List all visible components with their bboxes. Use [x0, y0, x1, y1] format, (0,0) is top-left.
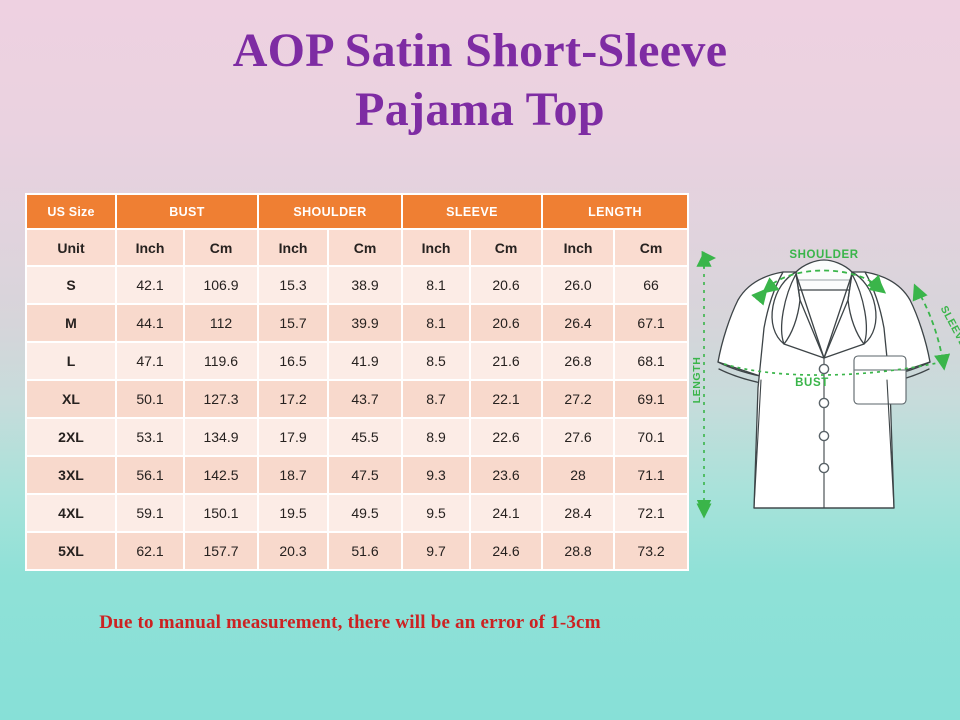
cell-shoulder-inch: 17.9	[259, 419, 327, 455]
button	[819, 431, 828, 440]
size-table: US Size BUST SHOULDER SLEEVE LENGTH Unit…	[25, 193, 689, 571]
table-row: L 47.1 119.6 16.5 41.9 8.5 21.6 26.8 68.…	[27, 343, 687, 379]
cell-size: 4XL	[27, 495, 115, 531]
cell-sleeve-inch: 8.1	[403, 267, 469, 303]
length-label: LENGTH	[691, 357, 703, 404]
cell-bust-inch: 42.1	[117, 267, 183, 303]
cell-bust-inch: 53.1	[117, 419, 183, 455]
cell-size: 2XL	[27, 419, 115, 455]
cell-size: 5XL	[27, 533, 115, 569]
cell-length-inch: 27.6	[543, 419, 613, 455]
cell-size: L	[27, 343, 115, 379]
unit-bust-cm: Cm	[185, 230, 257, 265]
cell-length-inch: 28.8	[543, 533, 613, 569]
cell-shoulder-cm: 41.9	[329, 343, 401, 379]
cell-bust-cm: 119.6	[185, 343, 257, 379]
cell-bust-inch: 47.1	[117, 343, 183, 379]
cell-size: 3XL	[27, 457, 115, 493]
cell-sleeve-cm: 22.6	[471, 419, 541, 455]
cell-shoulder-cm: 43.7	[329, 381, 401, 417]
cell-shoulder-inch: 15.7	[259, 305, 327, 341]
cell-bust-inch: 44.1	[117, 305, 183, 341]
cell-sleeve-cm: 24.1	[471, 495, 541, 531]
cell-length-inch: 27.2	[543, 381, 613, 417]
cell-shoulder-inch: 18.7	[259, 457, 327, 493]
cell-bust-cm: 106.9	[185, 267, 257, 303]
cell-length-cm: 66	[615, 267, 687, 303]
cell-length-inch: 26.8	[543, 343, 613, 379]
sleeve-label: SLEEVE	[938, 304, 960, 349]
column-header-length: LENGTH	[543, 195, 687, 228]
unit-bust-inch: Inch	[117, 230, 183, 265]
cell-bust-inch: 62.1	[117, 533, 183, 569]
cell-shoulder-cm: 51.6	[329, 533, 401, 569]
cell-bust-cm: 150.1	[185, 495, 257, 531]
unit-shoulder-inch: Inch	[259, 230, 327, 265]
table-row: XL 50.1 127.3 17.2 43.7 8.7 22.1 27.2 69…	[27, 381, 687, 417]
button	[819, 463, 828, 472]
garment-diagram: SHOULDER SLEEVE BUST LENGTH	[688, 228, 960, 546]
column-header-bust: BUST	[117, 195, 257, 228]
unit-sleeve-inch: Inch	[403, 230, 469, 265]
cell-bust-inch: 56.1	[117, 457, 183, 493]
cell-shoulder-inch: 19.5	[259, 495, 327, 531]
cell-sleeve-inch: 8.5	[403, 343, 469, 379]
table-row: 3XL 56.1 142.5 18.7 47.5 9.3 23.6 28 71.…	[27, 457, 687, 493]
cell-sleeve-inch: 9.3	[403, 457, 469, 493]
unit-shoulder-cm: Cm	[329, 230, 401, 265]
cell-bust-cm: 127.3	[185, 381, 257, 417]
cell-length-inch: 26.4	[543, 305, 613, 341]
table-row: 5XL 62.1 157.7 20.3 51.6 9.7 24.6 28.8 7…	[27, 533, 687, 569]
cell-sleeve-cm: 20.6	[471, 267, 541, 303]
disclaimer-text: Due to manual measurement, there will be…	[0, 612, 700, 634]
column-header-us-size: US Size	[27, 195, 115, 228]
cell-shoulder-cm: 39.9	[329, 305, 401, 341]
cell-bust-cm: 157.7	[185, 533, 257, 569]
cell-length-cm: 69.1	[615, 381, 687, 417]
cell-bust-cm: 134.9	[185, 419, 257, 455]
cell-size: M	[27, 305, 115, 341]
cell-length-inch: 28	[543, 457, 613, 493]
button	[819, 364, 828, 373]
cell-length-cm: 73.2	[615, 533, 687, 569]
table-unit-row: Unit Inch Cm Inch Cm Inch Cm Inch Cm	[27, 230, 687, 265]
column-header-shoulder: SHOULDER	[259, 195, 401, 228]
unit-length-cm: Cm	[615, 230, 687, 265]
sleeve-arrow-top	[915, 286, 920, 298]
cell-length-cm: 72.1	[615, 495, 687, 531]
cell-shoulder-inch: 17.2	[259, 381, 327, 417]
cell-sleeve-cm: 23.6	[471, 457, 541, 493]
unit-sleeve-cm: Cm	[471, 230, 541, 265]
shoulder-label: SHOULDER	[789, 249, 858, 261]
page-title-line-2: Pajama Top	[0, 81, 960, 140]
table-row: 2XL 53.1 134.9 17.9 45.5 8.9 22.6 27.6 7…	[27, 419, 687, 455]
table-row: 4XL 59.1 150.1 19.5 49.5 9.5 24.1 28.4 7…	[27, 495, 687, 531]
column-header-sleeve: SLEEVE	[403, 195, 541, 228]
cell-sleeve-inch: 8.7	[403, 381, 469, 417]
cell-shoulder-cm: 47.5	[329, 457, 401, 493]
cell-shoulder-cm: 38.9	[329, 267, 401, 303]
cell-length-cm: 71.1	[615, 457, 687, 493]
cell-sleeve-inch: 8.9	[403, 419, 469, 455]
page-title-line-1: AOP Satin Short-Sleeve	[0, 22, 960, 81]
table-row: S 42.1 106.9 15.3 38.9 8.1 20.6 26.0 66	[27, 267, 687, 303]
back-neck	[796, 260, 852, 290]
cell-sleeve-inch: 9.7	[403, 533, 469, 569]
page-title: AOP Satin Short-Sleeve Pajama Top	[0, 22, 960, 139]
cell-sleeve-inch: 9.5	[403, 495, 469, 531]
unit-length-inch: Inch	[543, 230, 613, 265]
cell-length-cm: 67.1	[615, 305, 687, 341]
cell-size: S	[27, 267, 115, 303]
cell-shoulder-inch: 15.3	[259, 267, 327, 303]
chest-pocket	[854, 356, 906, 404]
cell-shoulder-inch: 16.5	[259, 343, 327, 379]
cell-length-inch: 26.0	[543, 267, 613, 303]
cell-size: XL	[27, 381, 115, 417]
cell-bust-cm: 112	[185, 305, 257, 341]
cell-sleeve-cm: 20.6	[471, 305, 541, 341]
cell-shoulder-inch: 20.3	[259, 533, 327, 569]
table-row: M 44.1 112 15.7 39.9 8.1 20.6 26.4 67.1	[27, 305, 687, 341]
cell-shoulder-cm: 49.5	[329, 495, 401, 531]
table-group-header-row: US Size BUST SHOULDER SLEEVE LENGTH	[27, 195, 687, 228]
cell-bust-inch: 59.1	[117, 495, 183, 531]
cell-length-cm: 68.1	[615, 343, 687, 379]
size-chart-page: AOP Satin Short-Sleeve Pajama Top US Siz…	[0, 0, 960, 720]
unit-label: Unit	[27, 230, 115, 265]
bust-label: BUST	[795, 377, 829, 389]
cell-length-inch: 28.4	[543, 495, 613, 531]
cell-sleeve-cm: 24.6	[471, 533, 541, 569]
cell-length-cm: 70.1	[615, 419, 687, 455]
cell-bust-inch: 50.1	[117, 381, 183, 417]
cell-sleeve-cm: 22.1	[471, 381, 541, 417]
cell-bust-cm: 142.5	[185, 457, 257, 493]
cell-sleeve-cm: 21.6	[471, 343, 541, 379]
cell-sleeve-inch: 8.1	[403, 305, 469, 341]
button	[819, 398, 828, 407]
cell-shoulder-cm: 45.5	[329, 419, 401, 455]
